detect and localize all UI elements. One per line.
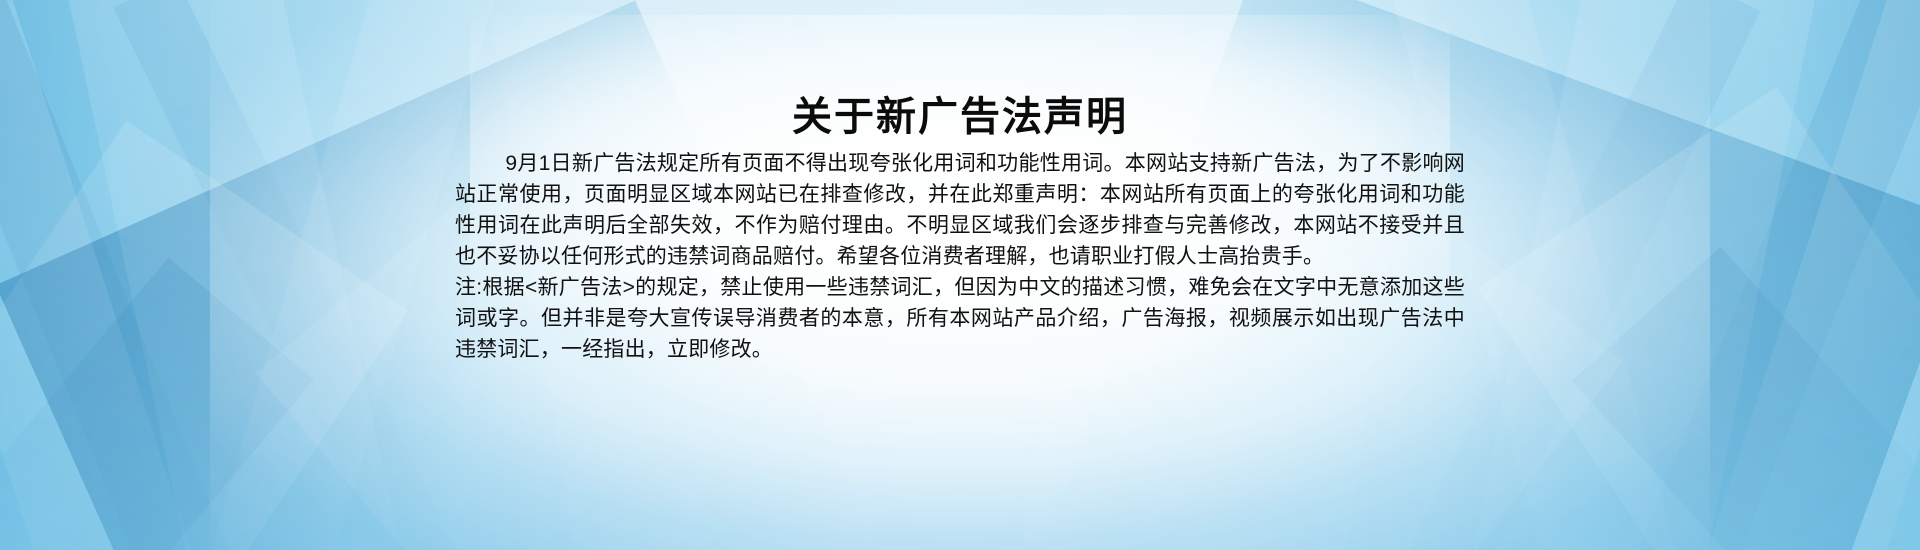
statement-paragraph-main: 9月1日新广告法规定所有页面不得出现夸张化用词和功能性用词。本网站支持新广告法，… [455, 148, 1465, 272]
statement-paragraph-note: 注:根据<新广告法>的规定，禁止使用一些违禁词汇，但因为中文的描述习惯，难免会在… [455, 272, 1465, 365]
statement-body: 9月1日新广告法规定所有页面不得出现夸张化用词和功能性用词。本网站支持新广告法，… [455, 148, 1465, 365]
advertising-law-statement-banner: 关于新广告法声明 9月1日新广告法规定所有页面不得出现夸张化用词和功能性用词。本… [0, 0, 1920, 550]
banner-content: 关于新广告法声明 9月1日新广告法规定所有页面不得出现夸张化用词和功能性用词。本… [0, 0, 1920, 550]
page-title: 关于新广告法声明 [0, 84, 1920, 142]
